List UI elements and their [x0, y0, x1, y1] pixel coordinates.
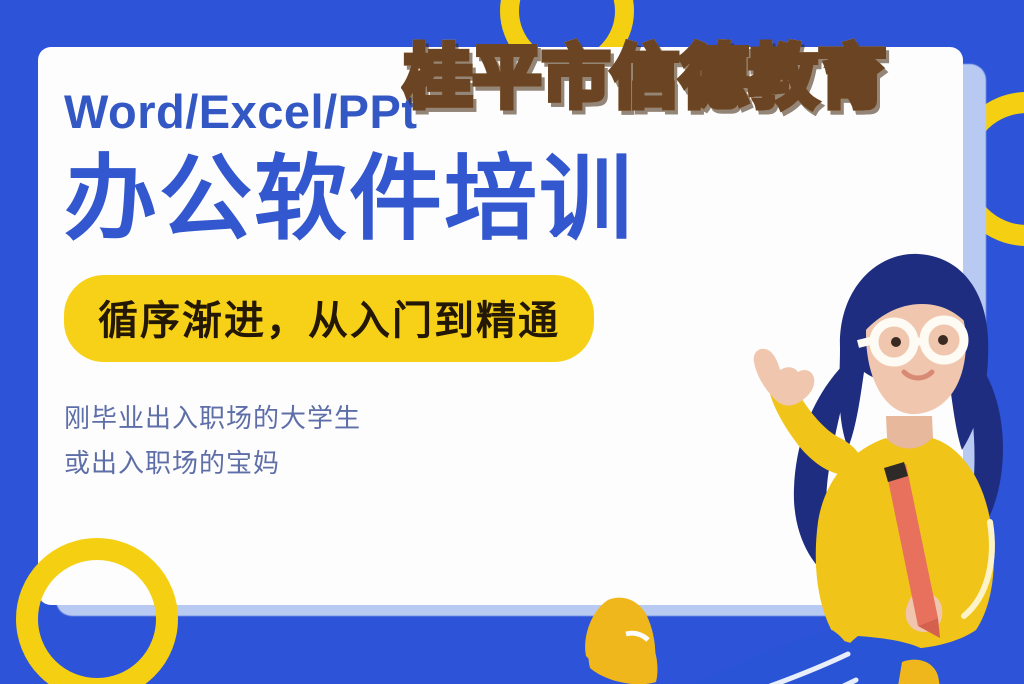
page-title: 办公软件培训 [64, 149, 764, 249]
description-line-1: 刚毕业出入职场的大学生 [64, 396, 764, 441]
audience-description: 刚毕业出入职场的大学生 或出入职场的宝妈 [64, 396, 764, 485]
illustration-woman [690, 238, 1024, 684]
poster-root: Word/Excel/PPt 办公软件培训 循序渐进，从入门到精通 刚毕业出入职… [0, 0, 1024, 684]
shoe-left-outer [560, 590, 680, 684]
watermark-text: 桂平市信德教育 [404, 22, 887, 121]
description-line-2: 或出入职场的宝妈 [64, 441, 764, 486]
text-content-block: Word/Excel/PPt 办公软件培训 循序渐进，从入门到精通 刚毕业出入职… [64, 88, 764, 486]
tagline-pill: 循序渐进，从入门到精通 [64, 275, 594, 362]
